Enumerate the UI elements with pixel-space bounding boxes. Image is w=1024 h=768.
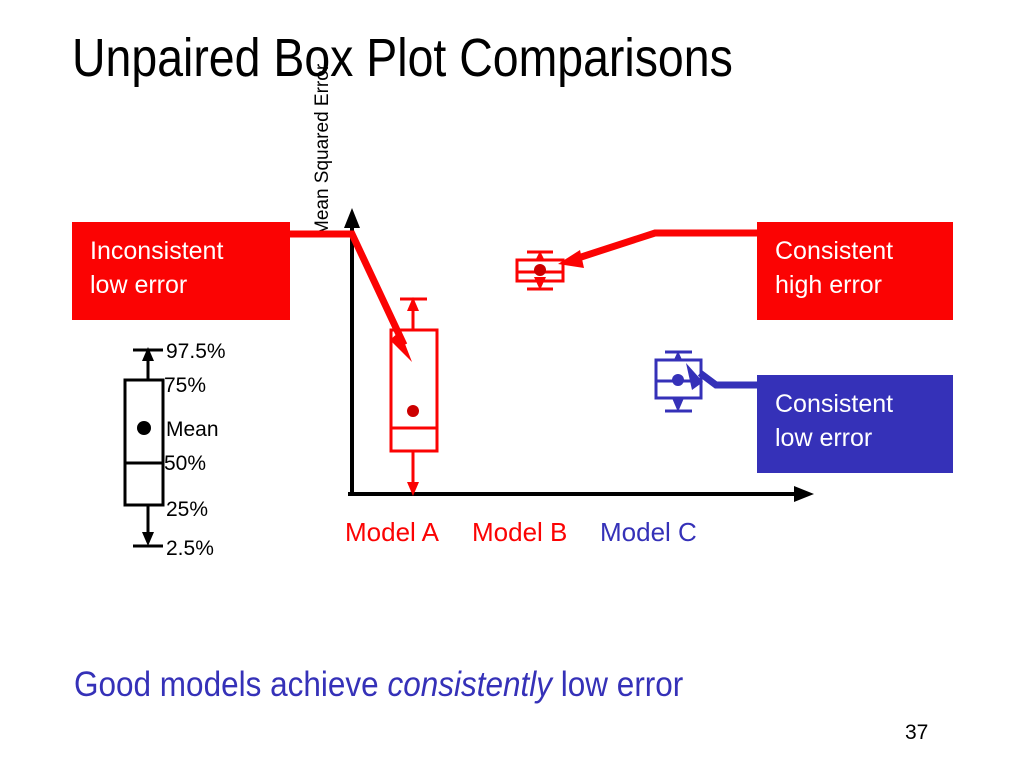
callout-line-2: high error — [775, 268, 953, 302]
x-axis-label-model-a: Model A — [345, 519, 439, 545]
boxplot-legend-glyph — [110, 335, 270, 565]
leader-arrow-consistent-low — [686, 363, 757, 390]
slide-canvas: Unpaired Box Plot Comparisons Inconsiste… — [0, 0, 1024, 768]
legend-label-lower-whisker: 2.5% — [166, 538, 214, 559]
boxplot-model-b — [517, 251, 563, 290]
slide-caption: Good models achieve consistently low err… — [74, 663, 683, 707]
boxplot-legend: 97.5% 75% Mean 50% 25% 2.5% — [110, 335, 270, 565]
y-axis-title: Mean Squared Error — [313, 64, 332, 236]
page-title: Unpaired Box Plot Comparisons — [72, 28, 837, 88]
caption-text-after: low error — [552, 665, 683, 704]
caption-emphasis: consistently — [387, 665, 552, 704]
page-number: 37 — [905, 722, 928, 743]
x-axis-label-model-c: Model C — [600, 519, 697, 545]
callout-line-1: Consistent — [775, 387, 953, 421]
callout-consistent-high-error[interactable]: Consistent high error — [757, 222, 953, 320]
leader-arrow-consistent-high — [558, 233, 757, 268]
callout-line-1: Inconsistent — [90, 234, 290, 268]
chart-axes — [344, 208, 814, 502]
legend-label-box-bottom: 25% — [166, 499, 208, 520]
legend-label-upper-whisker: 97.5% — [166, 341, 226, 362]
callout-line-1: Consistent — [775, 234, 953, 268]
legend-label-median: 50% — [164, 453, 206, 474]
callout-inconsistent-low-error[interactable]: Inconsistent low error — [72, 222, 290, 320]
callout-line-2: low error — [90, 268, 290, 302]
callout-line-2: low error — [775, 421, 953, 455]
leader-arrow-inconsistent-low — [290, 234, 412, 362]
legend-label-box-top: 75% — [164, 375, 206, 396]
x-axis-label-model-b: Model B — [472, 519, 567, 545]
boxplot-model-c — [656, 351, 701, 412]
boxplot-model-a — [391, 297, 437, 496]
caption-text-before: Good models achieve — [74, 665, 387, 704]
callout-consistent-low-error[interactable]: Consistent low error — [757, 375, 953, 473]
legend-label-mean: Mean — [166, 419, 219, 440]
